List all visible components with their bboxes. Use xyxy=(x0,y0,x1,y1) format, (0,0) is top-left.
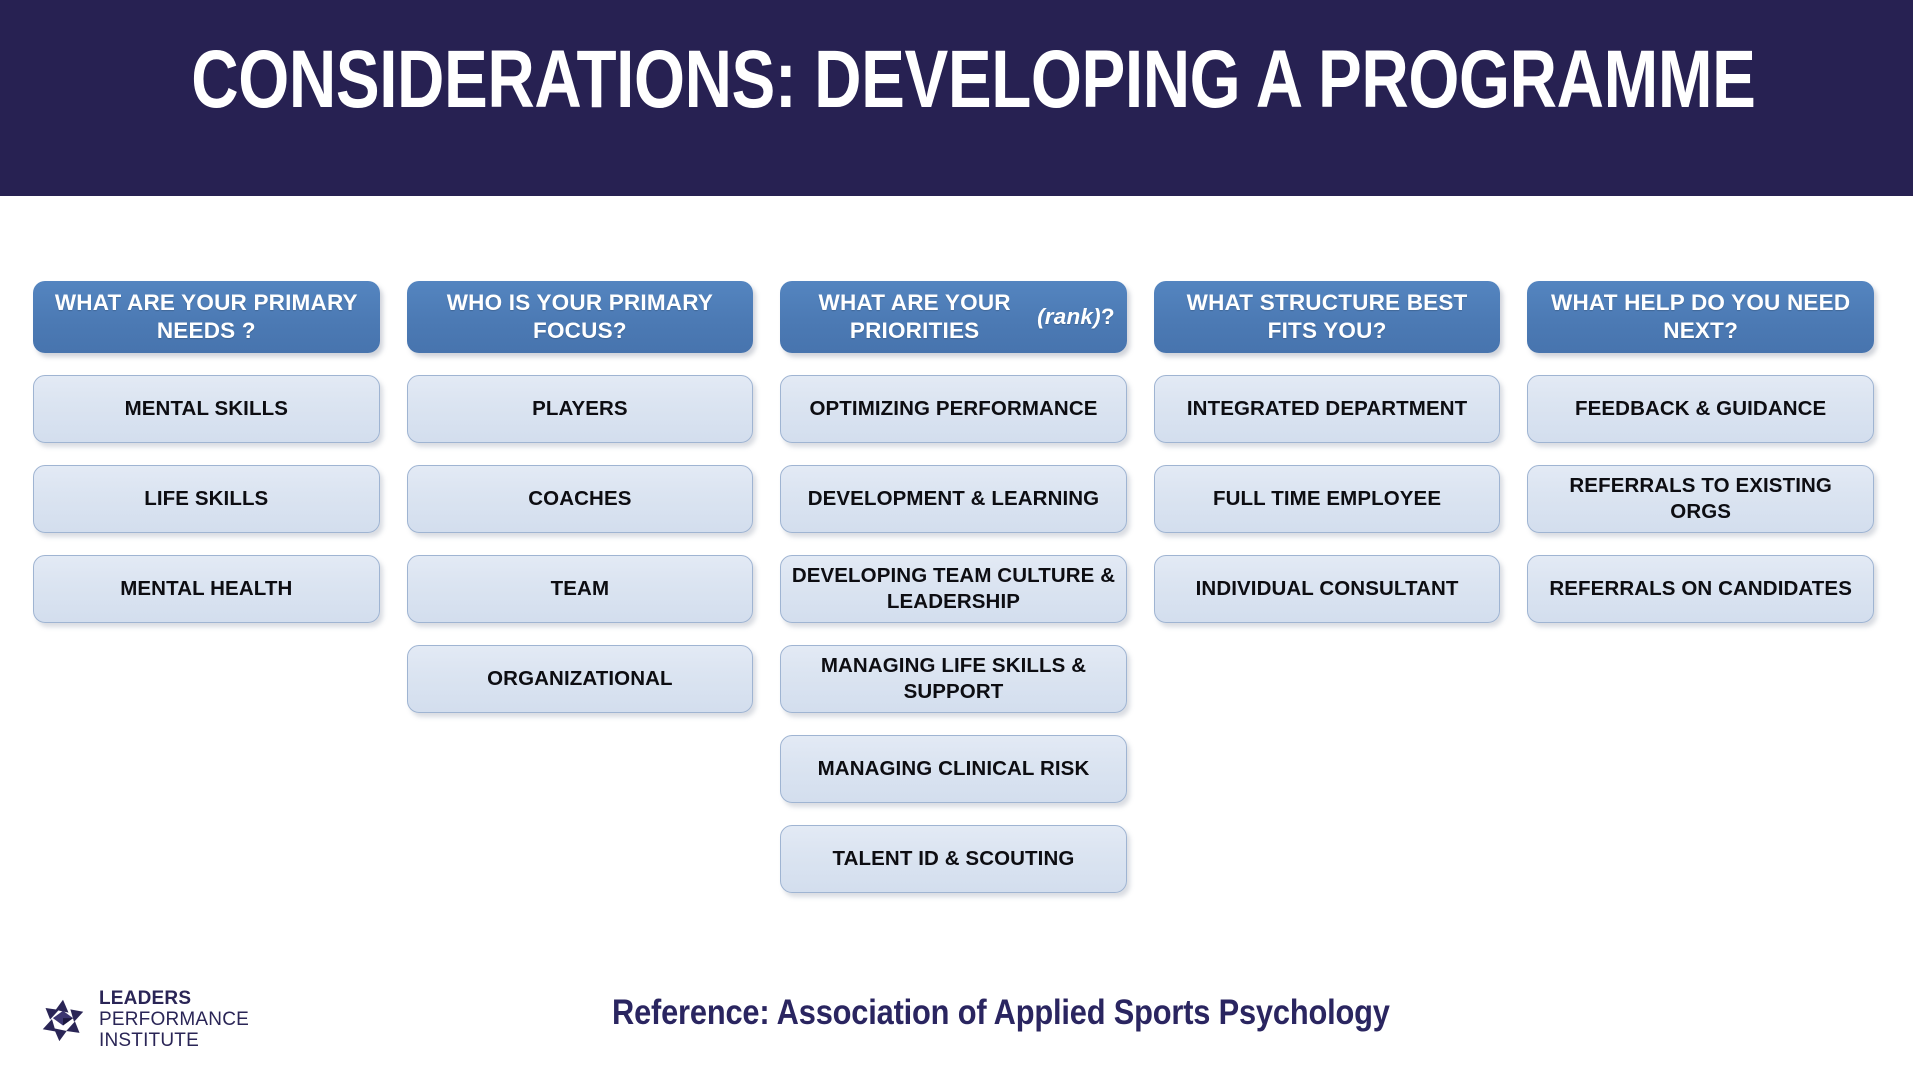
question-column-2: WHO IS YOUR PRIMARY FOCUS?PLAYERSCOACHES… xyxy=(407,281,754,713)
option-box[interactable]: MANAGING LIFE SKILLS & SUPPORT xyxy=(780,645,1127,713)
option-box[interactable]: DEVELOPING TEAM CULTURE & LEADERSHIP xyxy=(780,555,1127,623)
column-header-3[interactable]: WHAT ARE YOUR PRIORITIES (rank)? xyxy=(780,281,1127,353)
leaders-star-icon xyxy=(40,997,86,1043)
option-box[interactable]: ORGANIZATIONAL xyxy=(407,645,754,713)
option-box[interactable]: REFERRALS TO EXISTING ORGS xyxy=(1527,465,1874,533)
option-box[interactable]: FULL TIME EMPLOYEE xyxy=(1154,465,1501,533)
column-header-rank-note: (rank) xyxy=(1037,303,1101,331)
logo-line-leaders: LEADERS xyxy=(99,988,249,1009)
column-header-2[interactable]: WHO IS YOUR PRIMARY FOCUS? xyxy=(407,281,754,353)
option-box[interactable]: REFERRALS ON CANDIDATES xyxy=(1527,555,1874,623)
option-box[interactable]: TEAM xyxy=(407,555,754,623)
brand-logo: LEADERS PERFORMANCE INSTITUTE xyxy=(40,988,249,1051)
option-box[interactable]: INTEGRATED DEPARTMENT xyxy=(1154,375,1501,443)
question-column-1: WHAT ARE YOUR PRIMARY NEEDS ?MENTAL SKIL… xyxy=(33,281,380,623)
column-header-4[interactable]: WHAT STRUCTURE BEST FITS YOU? xyxy=(1154,281,1501,353)
logo-line-performance: PERFORMANCE xyxy=(99,1009,249,1030)
option-box[interactable]: PLAYERS xyxy=(407,375,754,443)
column-header-main-text: WHAT ARE YOUR PRIORITIES xyxy=(792,289,1037,345)
option-box[interactable]: DEVELOPMENT & LEARNING xyxy=(780,465,1127,533)
question-column-5: WHAT HELP DO YOU NEED NEXT?FEEDBACK & GU… xyxy=(1527,281,1874,623)
option-box[interactable]: MANAGING CLINICAL RISK xyxy=(780,735,1127,803)
option-box[interactable]: TALENT ID & SCOUTING xyxy=(780,825,1127,893)
option-box[interactable]: COACHES xyxy=(407,465,754,533)
slide-canvas: CONSIDERATIONS: DEVELOPING A PROGRAMME W… xyxy=(0,0,1913,1079)
option-box[interactable]: LIFE SKILLS xyxy=(33,465,380,533)
logo-line-institute: INSTITUTE xyxy=(99,1030,249,1051)
title-band: CONSIDERATIONS: DEVELOPING A PROGRAMME xyxy=(0,0,1913,196)
column-header-1[interactable]: WHAT ARE YOUR PRIMARY NEEDS ? xyxy=(33,281,380,353)
column-header-tail-text: ? xyxy=(1101,303,1115,331)
column-header-5[interactable]: WHAT HELP DO YOU NEED NEXT? xyxy=(1527,281,1874,353)
reference-caption: Reference: Association of Applied Sports… xyxy=(612,992,1390,1034)
question-column-3: WHAT ARE YOUR PRIORITIES (rank)?OPTIMIZI… xyxy=(780,281,1127,893)
option-box[interactable]: MENTAL SKILLS xyxy=(33,375,380,443)
question-column-4: WHAT STRUCTURE BEST FITS YOU?INTEGRATED … xyxy=(1154,281,1501,623)
option-box[interactable]: FEEDBACK & GUIDANCE xyxy=(1527,375,1874,443)
option-box[interactable]: MENTAL HEALTH xyxy=(33,555,380,623)
option-box[interactable]: INDIVIDUAL CONSULTANT xyxy=(1154,555,1501,623)
option-box[interactable]: OPTIMIZING PERFORMANCE xyxy=(780,375,1127,443)
page-title: CONSIDERATIONS: DEVELOPING A PROGRAMME xyxy=(191,26,1721,134)
considerations-grid: WHAT ARE YOUR PRIMARY NEEDS ?MENTAL SKIL… xyxy=(33,281,1874,893)
logo-wordmark: LEADERS PERFORMANCE INSTITUTE xyxy=(99,988,249,1051)
